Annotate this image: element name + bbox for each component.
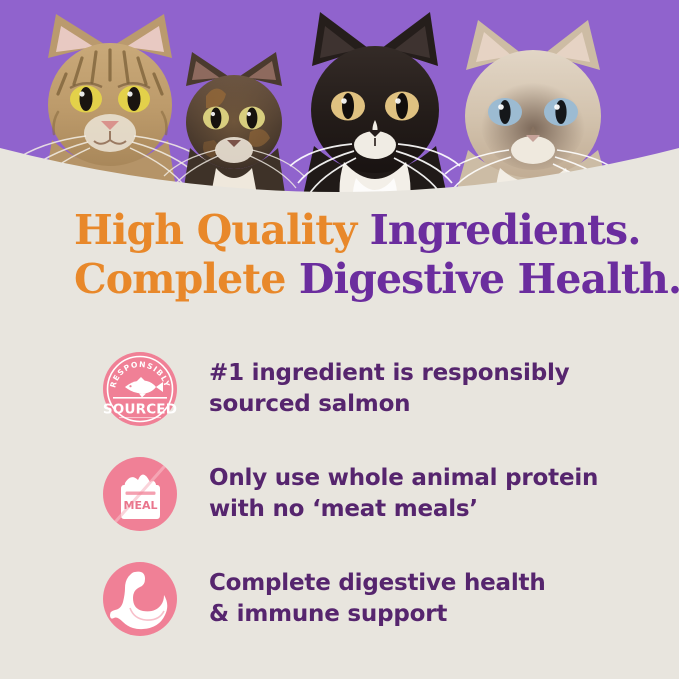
headline-line-1-purple: Ingredients.: [370, 206, 641, 254]
headline-line-1: High Quality Ingredients.: [74, 206, 634, 255]
digestive-stomach-heart-badge-icon: [97, 556, 183, 642]
product-benefits-infographic: High Quality Ingredients. Complete Diges…: [0, 0, 679, 679]
benefit-text: #1 ingredient is responsibly sourced sal…: [209, 358, 569, 420]
headline-line-2-orange: Complete: [74, 255, 299, 303]
headline-line-1-orange: High Quality: [74, 206, 370, 254]
headline-line-2-purple: Digestive Health.: [299, 255, 679, 303]
hero-wave-divider: [0, 130, 679, 200]
badge-main-label: SOURCED: [103, 401, 177, 417]
no-meat-meal-sack-badge-icon: MEAL: [97, 451, 183, 537]
responsibly-sourced-fish-badge-icon: RESPONSIBLY SOURCED: [97, 346, 183, 432]
list-item: MEAL Only use whole animal protein with …: [0, 441, 679, 546]
page-title: High Quality Ingredients. Complete Diges…: [74, 206, 634, 304]
list-item: RESPONSIBLY SOURCED #1 ingredient is re: [0, 336, 679, 441]
hero-banner: [0, 0, 679, 200]
list-item: Complete digestive health & immune suppo…: [0, 546, 679, 651]
headline-line-2: Complete Digestive Health.: [74, 255, 634, 304]
benefit-text: Complete digestive health & immune suppo…: [209, 568, 546, 630]
benefit-text: Only use whole animal protein with no ‘m…: [209, 463, 598, 525]
benefits-list: RESPONSIBLY SOURCED #1 ingredient is re: [0, 336, 679, 651]
